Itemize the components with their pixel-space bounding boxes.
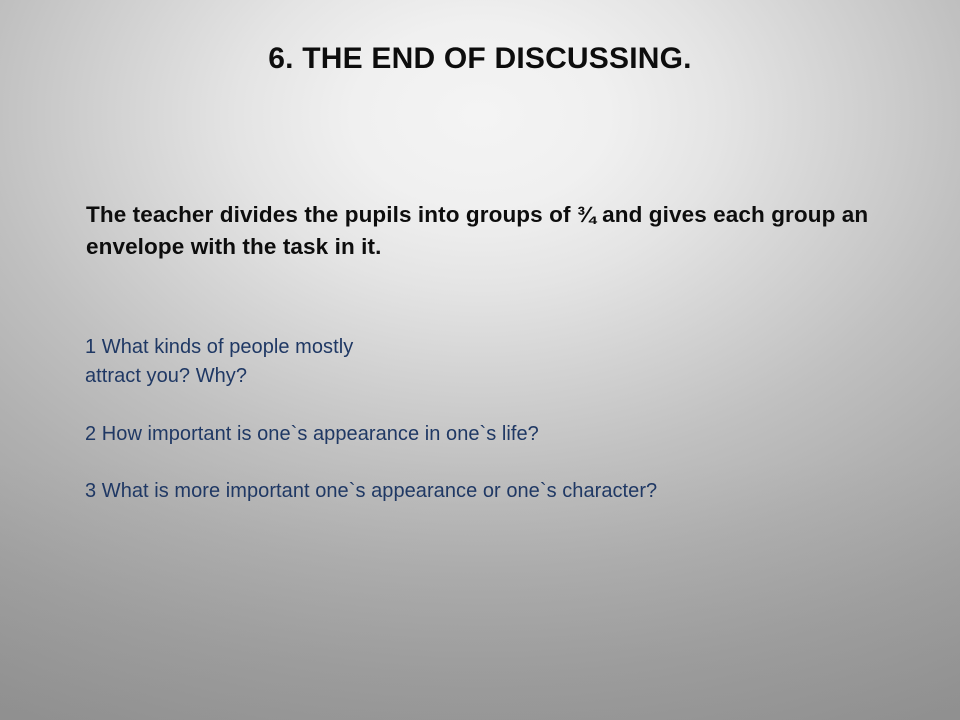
questions-list: 1 What kinds of people mostly attract yo… bbox=[85, 333, 905, 506]
presentation-slide: 6. THE END OF DISCUSSING. The teacher di… bbox=[0, 0, 960, 720]
question-3-line-1: 3 What is more important one`s appearanc… bbox=[85, 477, 905, 506]
intro-paragraph-container: The teacher divides the pupils into grou… bbox=[86, 199, 876, 263]
question-1-line-2: attract you? Why? bbox=[85, 362, 905, 391]
question-1-line-1: 1 What kinds of people mostly bbox=[85, 333, 905, 362]
slide-title-container: 6. THE END OF DISCUSSING. bbox=[0, 42, 960, 77]
question-item-3: 3 What is more important one`s appearanc… bbox=[85, 477, 905, 506]
intro-paragraph: The teacher divides the pupils into grou… bbox=[86, 199, 876, 263]
question-item-1: 1 What kinds of people mostly attract yo… bbox=[85, 333, 905, 391]
question-item-2: 2 How important is one`s appearance in o… bbox=[85, 420, 905, 449]
question-2-line-1: 2 How important is one`s appearance in o… bbox=[85, 420, 905, 449]
slide-title: 6. THE END OF DISCUSSING. bbox=[268, 42, 691, 77]
